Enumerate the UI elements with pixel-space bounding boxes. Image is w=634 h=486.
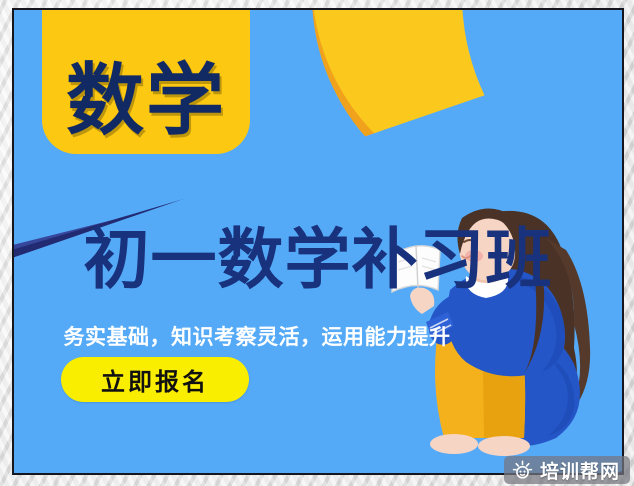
subject-badge: 数学 bbox=[42, 8, 250, 154]
watermark: 培训帮网 bbox=[504, 456, 630, 484]
subtitle-text: 务实基础，知识考察灵活，运用能力提升 bbox=[22, 321, 492, 351]
foot-right bbox=[478, 436, 530, 456]
enroll-now-button[interactable]: 立即报名 bbox=[61, 357, 249, 402]
subject-badge-label: 数学 bbox=[66, 62, 226, 140]
poster-card: 数学 初一数学补习班 务实基础，知识考察灵活，运用能力提升 立即报名 bbox=[12, 8, 624, 475]
foot-left bbox=[430, 434, 478, 454]
poster-frame: 数学 初一数学补习班 务实基础，知识考察灵活，运用能力提升 立即报名 bbox=[0, 0, 634, 486]
enroll-now-button-label: 立即报名 bbox=[101, 362, 209, 397]
page-title: 初一数学补习班 bbox=[16, 226, 620, 292]
sun-face-icon bbox=[512, 460, 533, 481]
watermark-text: 培训帮网 bbox=[540, 457, 620, 484]
